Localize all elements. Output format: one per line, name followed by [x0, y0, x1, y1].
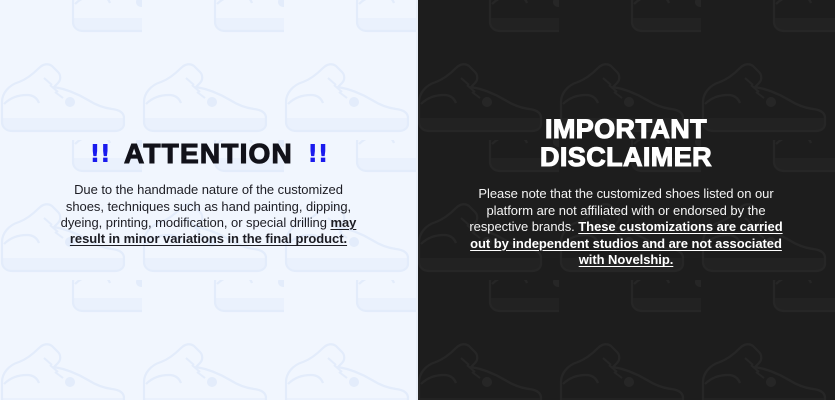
attention-body-text: Due to the handmade nature of the custom…	[56, 182, 362, 248]
disclaimer-heading-line-2: DISCLAIMER	[540, 143, 712, 171]
panel-divider	[416, 0, 418, 400]
attention-title: ATTENTION	[124, 140, 293, 168]
disclaimer-heading-line-1: IMPORTANT	[540, 115, 712, 143]
disclaimer-heading: IMPORTANT DISCLAIMER	[540, 115, 712, 171]
exclamation-marks-right-icon: !!	[307, 141, 328, 166]
attention-heading: !! ATTENTION !!	[89, 140, 328, 168]
disclaimer-panel: IMPORTANT DISCLAIMER Please note that th…	[417, 0, 835, 400]
attention-panel: !! ATTENTION !! Due to the handmade natu…	[0, 0, 417, 400]
attention-body-plain: Due to the handmade nature of the custom…	[61, 182, 351, 230]
exclamation-marks-left-icon: !!	[89, 141, 110, 166]
disclaimer-body-text: Please note that the customized shoes li…	[461, 186, 791, 269]
disclaimer-banner: !! ATTENTION !! Due to the handmade natu…	[0, 0, 835, 400]
